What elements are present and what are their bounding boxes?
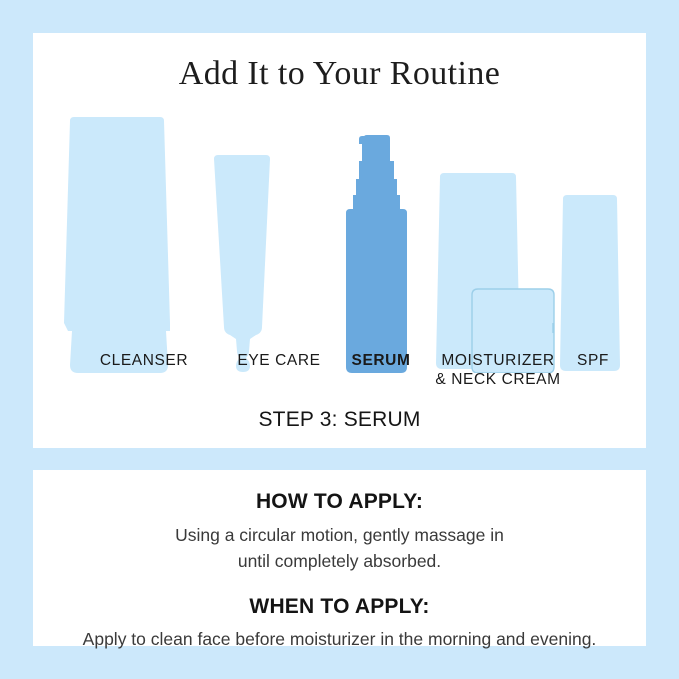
how-to-apply-body-line1: Using a circular motion, gently massage … — [33, 522, 646, 548]
infographic-page: Add It to Your Routine — [0, 0, 679, 679]
when-to-apply-body: Apply to clean face before moisturizer i… — [33, 626, 646, 652]
how-to-apply-body: Using a circular motion, gently massage … — [33, 522, 646, 574]
instructions-content: HOW TO APPLY: Using a circular motion, g… — [33, 470, 646, 652]
product-eyecare[interactable] — [205, 155, 279, 373]
product-label-spf: SPF — [543, 351, 643, 370]
product-label-moisturizer-line2: & NECK CREAM — [403, 370, 593, 389]
instructions-card: HOW TO APPLY: Using a circular motion, g… — [33, 470, 646, 646]
product-spf[interactable] — [550, 195, 630, 373]
how-to-apply-heading: HOW TO APPLY: — [33, 490, 646, 514]
product-shelf — [33, 93, 646, 373]
product-labels-row: CLEANSER EYE CARE SERUM MOISTURIZER & NE… — [33, 351, 646, 411]
pump-bottle-icon — [340, 135, 412, 373]
how-to-apply-body-line2: until completely absorbed. — [33, 548, 646, 574]
tube-large-icon — [58, 117, 176, 373]
tube-and-jar-icon — [428, 173, 558, 373]
routine-card: Add It to Your Routine — [33, 33, 646, 448]
when-to-apply-heading: WHEN TO APPLY: — [33, 595, 646, 619]
page-title: Add It to Your Routine — [33, 55, 646, 93]
product-serum[interactable] — [340, 135, 412, 373]
product-cleanser[interactable] — [58, 117, 176, 373]
tube-narrow-icon — [205, 155, 279, 373]
product-moisturizer[interactable] — [428, 173, 558, 373]
tube-small-icon — [550, 195, 630, 373]
step-caption: STEP 3: SERUM — [33, 408, 646, 432]
